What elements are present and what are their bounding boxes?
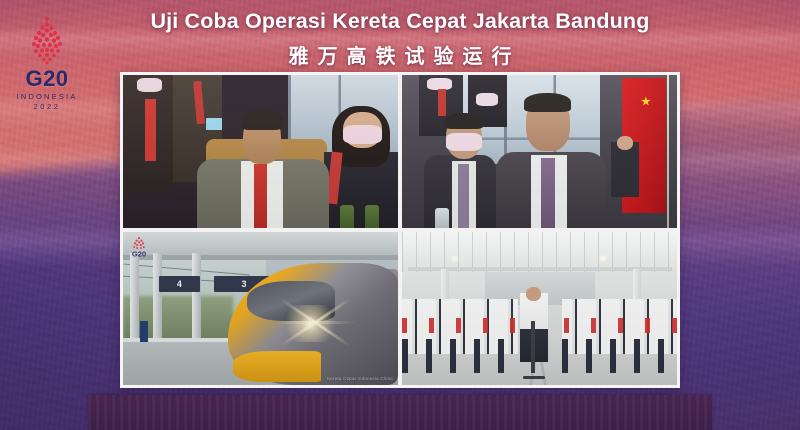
president-red-tie: [254, 164, 268, 228]
crowd-legs-left: [402, 339, 518, 373]
water-bottle: [365, 205, 379, 228]
flag-pole: [667, 75, 669, 228]
crowd-legs-right: [562, 339, 678, 373]
face-mask-icon: [137, 78, 162, 92]
bottom-stage-band: [88, 395, 712, 430]
water-bottle: [435, 208, 449, 228]
speaker-head: [526, 287, 541, 301]
g20-logo-year: 2022: [8, 103, 86, 111]
aide-tie: [458, 164, 469, 228]
id-badge: [206, 118, 223, 130]
video-grid: 4 3: [120, 72, 680, 388]
image-credit: Kereta Cepat Indonesia China: [327, 376, 393, 381]
lens-flare-ray: [274, 321, 357, 324]
ceiling-lamp-icon: [600, 256, 606, 261]
station-roof: [123, 232, 398, 256]
president-hair: [524, 93, 571, 111]
water-bottle: [340, 205, 354, 228]
g20-watermark-icon: G20: [128, 236, 150, 260]
panel-xi-delegation[interactable]: [402, 75, 677, 228]
broadcast-stage: G20 INDONESIA 2022 Uji Coba Operasi Kere…: [0, 0, 800, 430]
face-mask-icon: [476, 93, 498, 105]
svg-text:G20: G20: [132, 250, 146, 259]
roof-beam: [123, 255, 398, 260]
background-staff-head: [617, 136, 634, 150]
ceiling-lamp-icon: [452, 256, 458, 261]
aide-hair: [445, 113, 484, 128]
platform-worker: [140, 321, 148, 342]
microphone-stand-icon: [531, 321, 534, 373]
panel-platform-crowd[interactable]: [402, 232, 677, 385]
train-yellow-skirt: [233, 351, 321, 382]
platform-sign-4: 4: [159, 276, 200, 291]
panel-high-speed-train[interactable]: 4 3: [123, 232, 398, 385]
ceiling-panel-lines: [402, 232, 677, 272]
panel-jokowi-delegation[interactable]: [123, 75, 398, 228]
lanyard: [438, 89, 446, 117]
broadcast-title: Uji Coba Operasi Kereta Cepat Jakarta Ba…: [0, 9, 800, 34]
g20-logo-text: G20: [8, 68, 86, 90]
broadcast-subtitle: 雅万高铁试验运行: [0, 40, 800, 69]
g20-logo-country: INDONESIA: [8, 93, 86, 101]
president-tie: [541, 158, 555, 228]
delegate-red-tie: [145, 99, 156, 160]
station-pillar: [130, 253, 139, 348]
background-staff: [611, 142, 639, 197]
president-hair: [241, 110, 282, 130]
aide-face-mask-icon: [343, 125, 382, 143]
aide-face-mask-icon: [446, 133, 482, 151]
microphone-base: [523, 376, 545, 379]
